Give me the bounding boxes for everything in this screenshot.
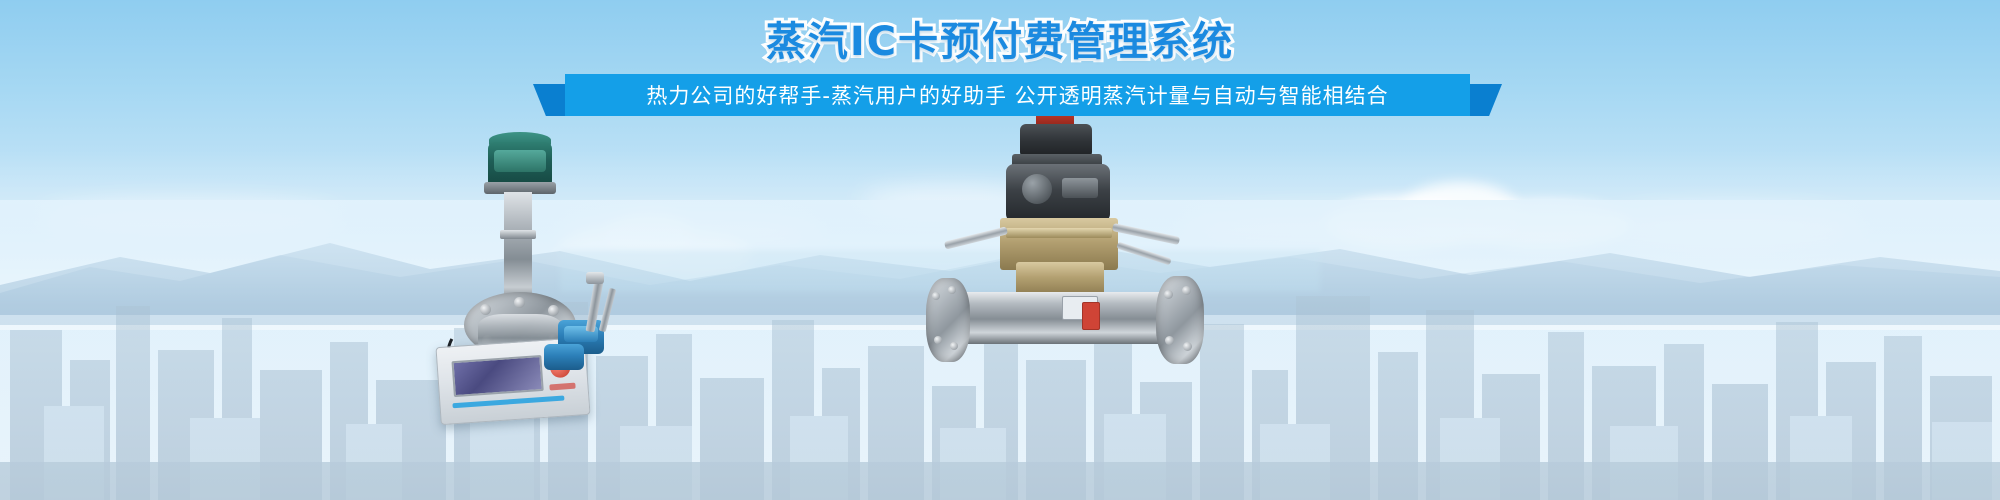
flange-bolt — [480, 304, 491, 315]
flange-bolt — [514, 297, 525, 308]
flange-left — [926, 278, 970, 362]
blue-sensor-secondary — [544, 344, 584, 370]
flange-bolt — [932, 292, 940, 300]
steam-ic-card-banner: 蒸汽IC卡预付费管理系统 热力公司的好帮手-蒸汽用户的好助手 公开透明蒸汽计量与… — [0, 0, 2000, 500]
flange-bolt — [1164, 290, 1173, 299]
actuator-top — [1020, 124, 1092, 158]
pneumatic-control-valve — [930, 110, 1230, 410]
temperature-probe — [599, 288, 616, 332]
brass-valve-neck — [1016, 262, 1104, 296]
brass-ridge — [1006, 228, 1112, 238]
flange-bolt — [934, 336, 942, 344]
banner-subtitle: 热力公司的好帮手-蒸汽用户的好助手 公开透明蒸汽计量与自动与智能相结合 — [565, 74, 1470, 116]
ribbon-tail-right — [1468, 84, 1502, 116]
meter-accent-stripe — [452, 395, 564, 408]
page-title: 蒸汽IC卡预付费管理系统 — [766, 18, 1234, 66]
banner-title-wrap: 蒸汽IC卡预付费管理系统 — [0, 18, 2000, 66]
actuator-gauge — [1022, 174, 1052, 204]
flange-bolt — [548, 305, 559, 316]
transmitter-window — [494, 150, 546, 172]
flange-bolt — [1182, 286, 1191, 295]
flange-bolt — [1183, 342, 1192, 351]
subtitle-ribbon: 热力公司的好帮手-蒸汽用户的好助手 公开透明蒸汽计量与自动与智能相结合 — [0, 74, 2000, 120]
vortex-flow-meter — [440, 130, 670, 500]
flange-bolt — [948, 286, 956, 294]
ribbon-tail-left — [533, 84, 567, 116]
meter-display-screen — [451, 355, 543, 397]
meter-red-label — [549, 383, 575, 391]
valve-handle-left — [944, 226, 1008, 249]
stem-collar — [500, 230, 536, 239]
flange-bolt — [1165, 336, 1174, 345]
probe-head — [586, 272, 604, 284]
flange-bolt — [950, 342, 958, 350]
warning-tag — [1082, 302, 1100, 330]
valve-handle-right — [1112, 223, 1180, 245]
flange-right — [1156, 276, 1204, 364]
actuator-port — [1062, 178, 1098, 198]
valve-rod — [1116, 242, 1171, 266]
stainless-stem — [504, 192, 532, 304]
